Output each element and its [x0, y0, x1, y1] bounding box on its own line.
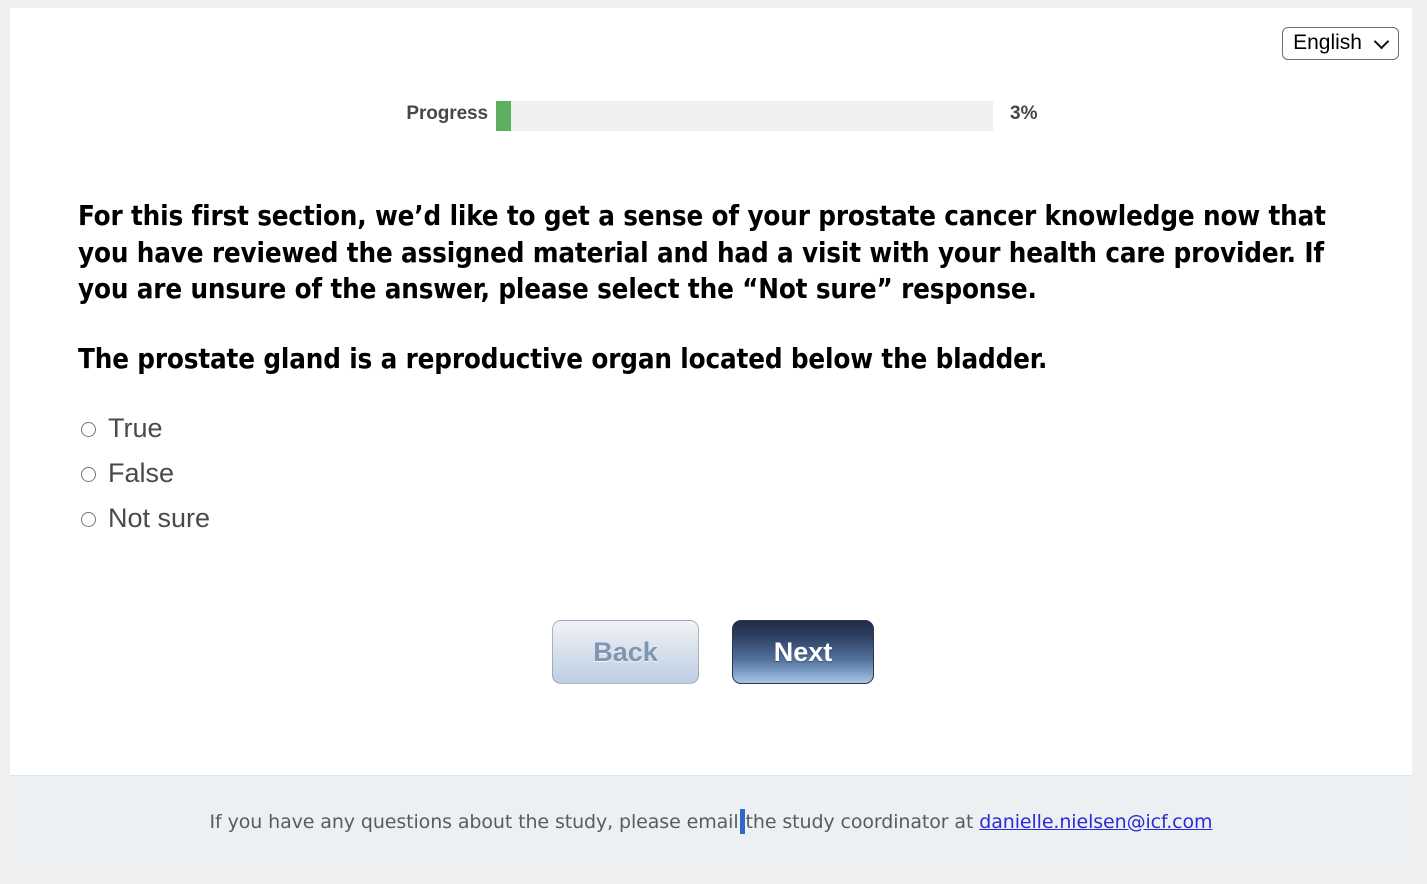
option-label: Not sure	[108, 505, 210, 532]
radio-button-true[interactable]	[81, 422, 96, 437]
option-row[interactable]: Not sure	[78, 497, 1352, 542]
footer-text-after: the study coordinator at	[746, 811, 980, 833]
footer-contact-text: If you have any questions about the stud…	[210, 809, 1213, 834]
page-footer: If you have any questions about the stud…	[10, 775, 1412, 866]
option-label: False	[108, 460, 174, 487]
radio-button-not-sure[interactable]	[81, 512, 96, 527]
survey-content: For this first section, we’d like to get…	[78, 198, 1352, 542]
progress-percent: 3%	[1010, 103, 1037, 125]
language-select[interactable]: English	[1282, 27, 1399, 60]
language-select-value: English	[1293, 32, 1362, 54]
section-intro-text: For this first section, we’d like to get…	[78, 198, 1340, 308]
survey-page-card: English Progress 3% For this first secti…	[10, 8, 1412, 866]
back-button[interactable]: Back	[552, 620, 699, 684]
option-label: True	[108, 415, 163, 442]
progress-fill	[496, 101, 511, 131]
option-row[interactable]: True	[78, 407, 1352, 452]
coordinator-email-link[interactable]: danielle.nielsen@icf.com	[979, 811, 1212, 833]
progress-bar-row: Progress 3%	[10, 101, 1412, 135]
answer-options: TrueFalseNot sure	[78, 407, 1352, 542]
language-selector-wrapper: English	[1282, 27, 1399, 60]
question-text: The prostate gland is a reproductive org…	[78, 341, 1340, 378]
progress-track	[496, 101, 993, 131]
navigation-buttons: Back Next	[10, 620, 1412, 695]
radio-button-false[interactable]	[81, 467, 96, 482]
footer-text-before: If you have any questions about the stud…	[210, 811, 739, 833]
progress-label: Progress	[380, 103, 488, 125]
chevron-down-icon	[1376, 35, 1389, 48]
text-caret	[740, 809, 745, 834]
option-row[interactable]: False	[78, 452, 1352, 497]
next-button[interactable]: Next	[732, 620, 874, 684]
